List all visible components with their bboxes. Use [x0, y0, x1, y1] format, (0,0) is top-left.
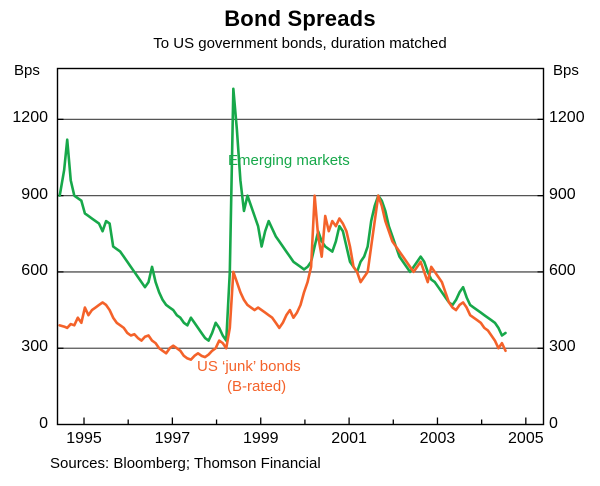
chart-plot [0, 0, 600, 486]
y-axis-tick-label-right: 0 [549, 415, 600, 433]
y-axis-tick-label: 1200 [2, 109, 48, 127]
series-label-junk-bonds: US ‘junk’ bonds [197, 358, 301, 375]
data-series-line [60, 89, 506, 341]
y-axis-tick-label-right: 300 [549, 338, 600, 356]
series-label-emerging-markets: Emerging markets [228, 152, 350, 169]
x-axis-tick-label: 1997 [142, 430, 202, 448]
data-series-group [60, 89, 506, 360]
x-axis-tick-label: 2005 [496, 430, 556, 448]
y-axis-tick-label-right: 1200 [549, 109, 600, 127]
x-axis-tick-label: 2001 [319, 430, 379, 448]
data-series-line [60, 196, 506, 360]
y-axis-tick-label: 600 [2, 262, 48, 280]
y-axis-tick-label: 0 [2, 415, 48, 433]
y-axis-tick-label-right: 600 [549, 262, 600, 280]
series-label-junk-bonds-rating: (B-rated) [227, 378, 286, 395]
x-axis-tick-label: 1999 [231, 430, 291, 448]
y-axis-tick-label: 900 [2, 186, 48, 204]
x-axis-tick-label: 2003 [407, 430, 467, 448]
sources-note: Sources: Bloomberg; Thomson Financial [50, 455, 321, 472]
chart-page: Bond Spreads To US government bonds, dur… [0, 0, 600, 486]
y-axis-tick-label-right: 900 [549, 186, 600, 204]
y-axis-tick-label: 300 [2, 338, 48, 356]
x-axis-tick-label: 1995 [54, 430, 114, 448]
